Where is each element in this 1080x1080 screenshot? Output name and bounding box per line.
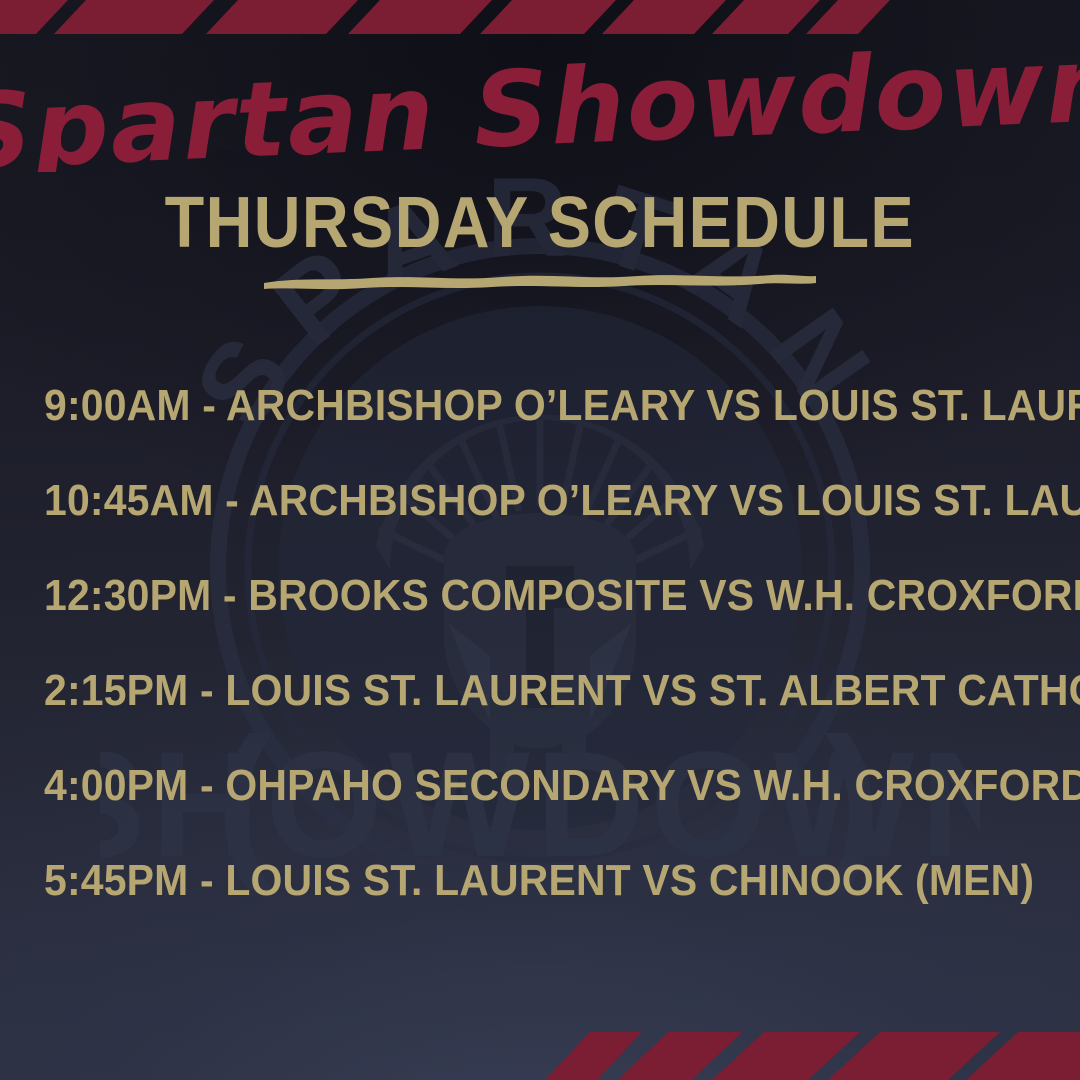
- main-title-graphic: Spartan Showdown: [0, 44, 1080, 172]
- main-title-wrap: Spartan Showdown: [0, 44, 1080, 172]
- subtitle-block: THURSDAY SCHEDULE: [0, 186, 1080, 260]
- schedule-row-text: 5:45PM - LOUIS ST. LAURENT VS CHINOOK (M…: [44, 857, 1034, 905]
- spartan-showdown-poster: SPARTAN: [0, 0, 1080, 1080]
- schedule-row-text: 4:00PM - OHPAHO SECONDARY VS W.H. CROXFO…: [44, 762, 1080, 810]
- main-title: Spartan Showdown: [0, 44, 1080, 172]
- schedule-list: 9:00AM - ARCHBISHOP O’LEARY VS LOUIS ST.…: [0, 358, 1080, 928]
- schedule-row-text: 9:00AM - ARCHBISHOP O’LEARY VS LOUIS ST.…: [44, 382, 1080, 430]
- page-subtitle: THURSDAY SCHEDULE: [165, 186, 915, 260]
- schedule-row: 5:45PM - LOUIS ST. LAURENT VS CHINOOK (M…: [0, 833, 1080, 928]
- schedule-row: 4:00PM - OHPAHO SECONDARY VS W.H. CROXFO…: [0, 738, 1080, 833]
- poster-content: Spartan Showdown THURSDAY SCHEDULE 9:00A…: [0, 0, 1080, 1080]
- schedule-row-text: 2:15PM - LOUIS ST. LAURENT VS ST. ALBERT…: [44, 667, 1080, 715]
- hand-drawn-underline-icon: [260, 266, 820, 294]
- schedule-row: 9:00AM - ARCHBISHOP O’LEARY VS LOUIS ST.…: [0, 358, 1080, 453]
- schedule-row: 2:15PM - LOUIS ST. LAURENT VS ST. ALBERT…: [0, 643, 1080, 738]
- schedule-row-text: 12:30PM - BROOKS COMPOSITE VS W.H. CROXF…: [44, 572, 1080, 620]
- schedule-row: 12:30PM - BROOKS COMPOSITE VS W.H. CROXF…: [0, 548, 1080, 643]
- subtitle-underline-wrap: [260, 266, 820, 294]
- schedule-row-text: 10:45AM - ARCHBISHOP O’LEARY VS LOUIS ST…: [44, 477, 1080, 525]
- schedule-row: 10:45AM - ARCHBISHOP O’LEARY VS LOUIS ST…: [0, 453, 1080, 548]
